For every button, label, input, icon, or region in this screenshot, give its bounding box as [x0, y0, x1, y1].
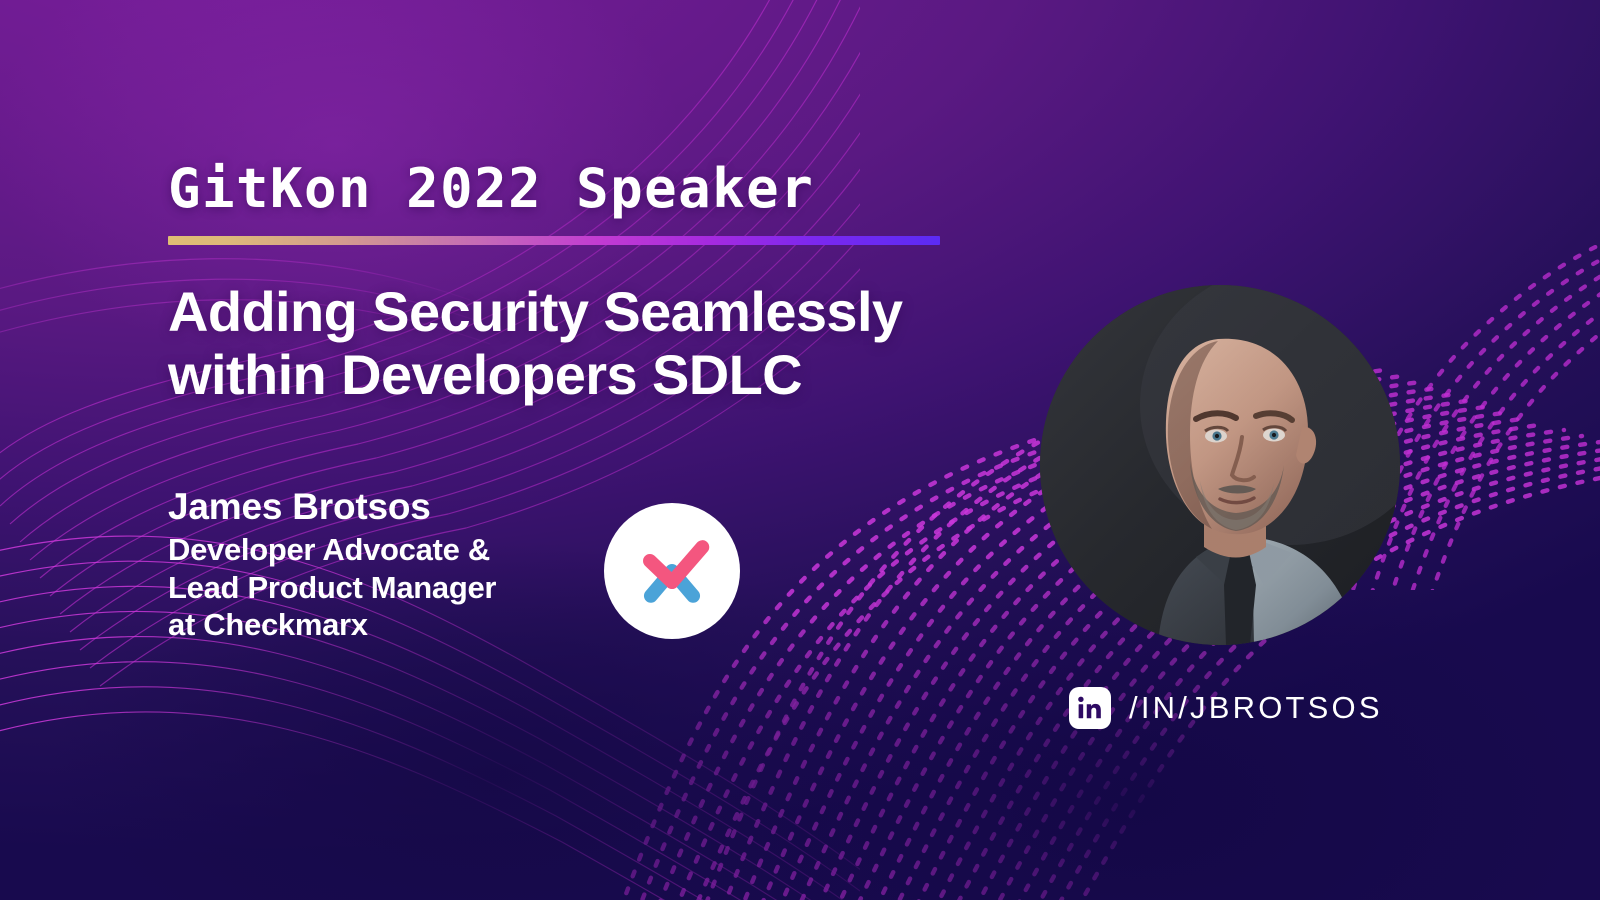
speaker-portrait — [1040, 285, 1400, 645]
talk-title: Adding Security Seamlessly within Develo… — [168, 281, 1068, 406]
speaker-role: Developer Advocate & Lead Product Manage… — [168, 531, 598, 643]
checkmarx-x-logo — [626, 525, 718, 617]
checkmarx-logo-badge — [604, 503, 740, 639]
talk-title-line-2: within Developers SDLC — [168, 344, 1068, 407]
linkedin-handle[interactable]: /IN/JBROTSOS — [1129, 690, 1383, 726]
speaker-name: James Brotsos — [168, 486, 598, 527]
speaker-role-line-3: at Checkmarx — [168, 606, 598, 643]
linkedin-contact[interactable]: /IN/JBROTSOS — [1069, 687, 1383, 729]
portrait-illustration — [1040, 285, 1400, 645]
gradient-divider — [168, 236, 940, 245]
speaker-promo-card: GitKon 2022 Speaker Adding Security Seam… — [0, 0, 1600, 900]
linkedin-icon[interactable] — [1069, 687, 1111, 729]
bottom-right-shadow — [480, 432, 1600, 900]
talk-title-line-1: Adding Security Seamlessly — [168, 281, 1068, 344]
speaker-role-line-2: Lead Product Manager — [168, 569, 598, 606]
event-eyebrow: GitKon 2022 Speaker — [168, 157, 814, 220]
speaker-role-line-1: Developer Advocate & — [168, 531, 598, 568]
speaker-block: James Brotsos Developer Advocate & Lead … — [168, 486, 598, 643]
